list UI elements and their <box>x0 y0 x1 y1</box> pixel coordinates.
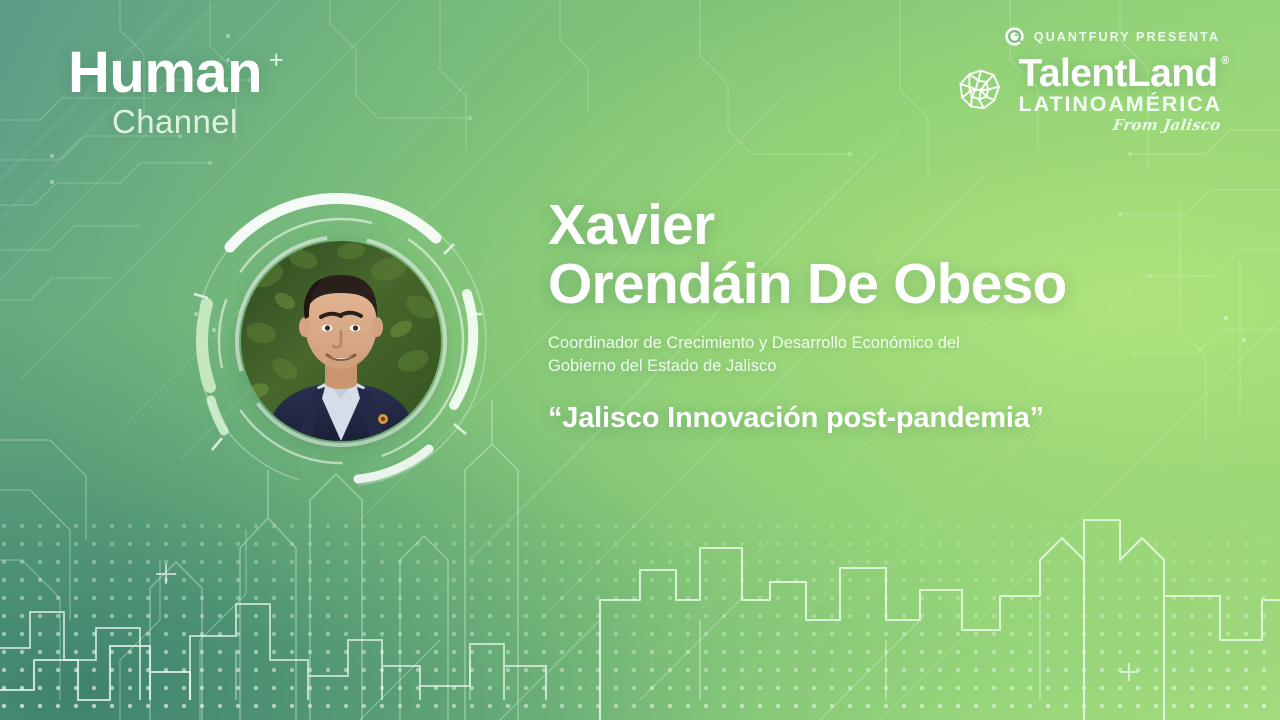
speaker-role: Coordinador de Crecimiento y Desarrollo … <box>548 332 1208 378</box>
channel-subtitle: Channel <box>112 105 262 138</box>
channel-name: Human + <box>68 44 262 102</box>
speaker-first-name: Xavier <box>548 193 714 257</box>
speaker-role-line-2: Gobierno del Estado de Jalisco <box>548 355 1208 378</box>
registered-mark-icon: ® <box>1221 56 1229 67</box>
speaker-info: Xavier Orendáin De Obeso Coordinador de … <box>548 196 1208 435</box>
event-script-tagline: From Jalisco <box>1017 118 1221 133</box>
event-brand-block: QUANTFURY PRESENTA <box>954 26 1222 133</box>
speaker-role-line-1: Coordinador de Crecimiento y Desarrollo … <box>548 332 1208 355</box>
event-name: TalentLand ® <box>1019 54 1218 93</box>
speaker-name: Xavier Orendáin De Obeso <box>548 196 1208 313</box>
sponsor-label: QUANTFURY PRESENTA <box>1034 30 1220 44</box>
event-region: LATINOAMÉRICA <box>1019 94 1222 116</box>
broadcast-lower-third-slide: Human + Channel QUANTFURY PRESENTA <box>0 0 1280 720</box>
speaker-portrait-block <box>186 186 496 496</box>
sponsor-row: QUANTFURY PRESENTA <box>954 26 1220 47</box>
channel-name-text: Human <box>68 40 262 105</box>
quantfury-q-icon <box>1004 26 1025 47</box>
speaker-portrait-photo <box>241 241 441 441</box>
talentland-row: TalentLand ® LATINOAMÉRICA From Jalisco <box>954 54 1222 133</box>
talentland-brain-network-icon <box>954 67 1008 119</box>
portrait-image <box>241 241 441 441</box>
event-name-text: TalentLand <box>1019 52 1218 95</box>
talk-title: “Jalisco Innovación post-pandemia” <box>548 402 1208 435</box>
plus-icon: + <box>269 48 283 73</box>
speaker-last-name: Orendáin De Obeso <box>548 255 1208 314</box>
talentland-wordmark: TalentLand ® LATINOAMÉRICA From Jalisco <box>1019 54 1222 133</box>
channel-logo: Human + Channel <box>68 44 262 138</box>
